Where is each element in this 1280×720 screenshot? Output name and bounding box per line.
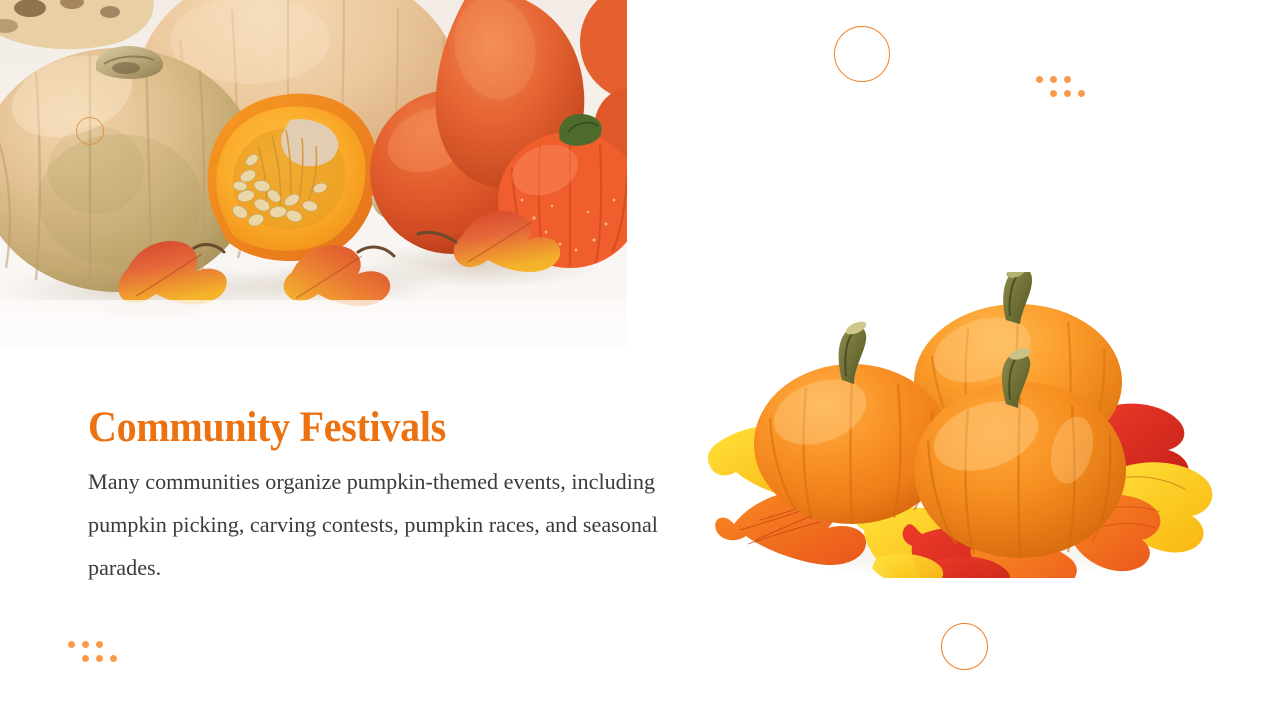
dot-cluster-top-right-icon	[1036, 76, 1096, 104]
text-content-block: Community Festivals Many communities org…	[88, 405, 688, 589]
three-pumpkins-photo	[700, 272, 1220, 592]
pumpkin-assortment-photo	[0, 0, 627, 347]
circle-outline-bottom-right-icon	[941, 623, 988, 670]
pumpkin-assortment-illustration	[0, 0, 627, 347]
dot-cluster-bottom-left-icon	[68, 641, 128, 669]
three-pumpkins-illustration	[700, 272, 1220, 592]
page-title: Community Festivals	[88, 405, 646, 450]
slide-canvas: Community Festivals Many communities org…	[0, 0, 1280, 720]
body-paragraph: Many communities organize pumpkin-themed…	[88, 460, 679, 589]
circle-outline-top-right-icon	[834, 26, 890, 82]
